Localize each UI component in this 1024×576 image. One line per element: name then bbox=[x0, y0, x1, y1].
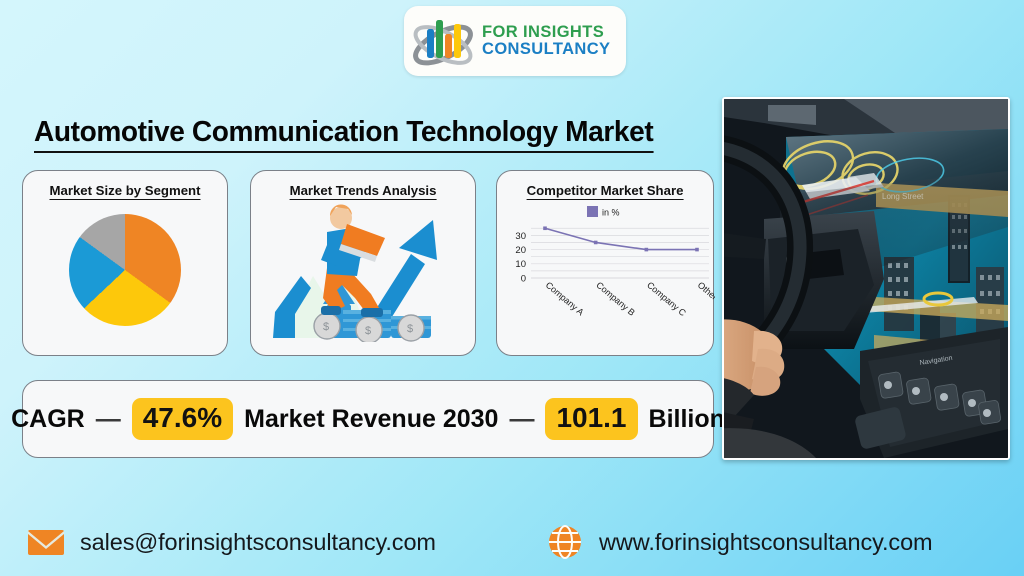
line-chart-graphic: in %0102030Company ACompany BCompany COt… bbox=[501, 206, 715, 348]
growth-illustration: $ $ $ bbox=[251, 202, 475, 342]
x-axis-tick-label: Company A bbox=[544, 280, 586, 318]
data-point-marker bbox=[594, 241, 598, 245]
legend-swatch bbox=[587, 206, 598, 217]
card-title: Market Trends Analysis bbox=[290, 183, 437, 200]
line-chart: in %0102030Company ACompany BCompany COt… bbox=[497, 206, 713, 353]
svg-text:$: $ bbox=[407, 323, 413, 335]
pie-chart-graphic bbox=[69, 214, 181, 326]
card-competitor-market-share: Competitor Market Share in %0102030Compa… bbox=[496, 170, 714, 356]
brand-logo-line1: FOR INSIGHTS bbox=[482, 24, 610, 41]
card-market-trends-analysis: Market Trends Analysis bbox=[250, 170, 476, 356]
cagr-label: CAGR bbox=[11, 405, 85, 434]
card-market-size-by-segment: Market Size by Segment bbox=[22, 170, 228, 356]
footer-website-text: www.forinsightsconsultancy.com bbox=[599, 529, 933, 556]
footer-website[interactable]: www.forinsightsconsultancy.com bbox=[545, 522, 933, 562]
svg-text:$: $ bbox=[323, 321, 329, 333]
x-axis-tick-label: Company B bbox=[594, 280, 636, 318]
cagr-value-badge: 47.6% bbox=[132, 398, 233, 440]
revenue-unit: Billion bbox=[649, 405, 725, 434]
data-point-marker bbox=[645, 248, 649, 252]
footer-email-text: sales@forinsightsconsultancy.com bbox=[80, 529, 436, 556]
bar-chart-swoosh-logo-icon bbox=[410, 11, 476, 71]
brand-logo-line2: CONSULTANCY bbox=[482, 41, 610, 58]
cagr-dash: — bbox=[96, 405, 121, 434]
car-interior-photo: Long Street Navigation bbox=[722, 97, 1010, 460]
growth-chart-person-icon: $ $ $ bbox=[265, 202, 461, 342]
revenue-label: Market Revenue 2030 bbox=[244, 405, 498, 434]
brand-logo[interactable]: FOR INSIGHTS CONSULTANCY bbox=[404, 6, 626, 76]
pie-chart bbox=[23, 214, 227, 326]
y-axis-tick-label: 20 bbox=[515, 245, 526, 256]
y-axis-tick-label: 30 bbox=[515, 231, 526, 242]
card-title: Competitor Market Share bbox=[527, 183, 684, 200]
car-interior-ar-dashboard-image: Long Street Navigation bbox=[724, 99, 1008, 458]
data-series-line bbox=[545, 228, 697, 249]
data-point-marker bbox=[543, 226, 547, 230]
card-title: Market Size by Segment bbox=[50, 183, 201, 200]
y-axis-tick-label: 0 bbox=[521, 273, 526, 284]
globe-icon bbox=[545, 522, 585, 562]
x-axis-tick-label: Company C bbox=[645, 280, 688, 319]
svg-text:$: $ bbox=[365, 325, 371, 337]
x-axis-tick-label: Other Competitors bbox=[696, 280, 715, 335]
revenue-dash: — bbox=[509, 405, 534, 434]
brand-logo-text: FOR INSIGHTS CONSULTANCY bbox=[482, 24, 610, 58]
envelope-icon bbox=[26, 522, 66, 562]
stats-banner: CAGR — 47.6% Market Revenue 2030 — 101.1… bbox=[22, 380, 714, 458]
data-point-marker bbox=[695, 248, 699, 252]
revenue-value-badge: 101.1 bbox=[545, 398, 637, 440]
footer-email[interactable]: sales@forinsightsconsultancy.com bbox=[26, 522, 436, 562]
page-title: Automotive Communication Technology Mark… bbox=[34, 116, 653, 153]
y-axis-tick-label: 10 bbox=[515, 259, 526, 270]
legend-label: in % bbox=[602, 208, 620, 218]
